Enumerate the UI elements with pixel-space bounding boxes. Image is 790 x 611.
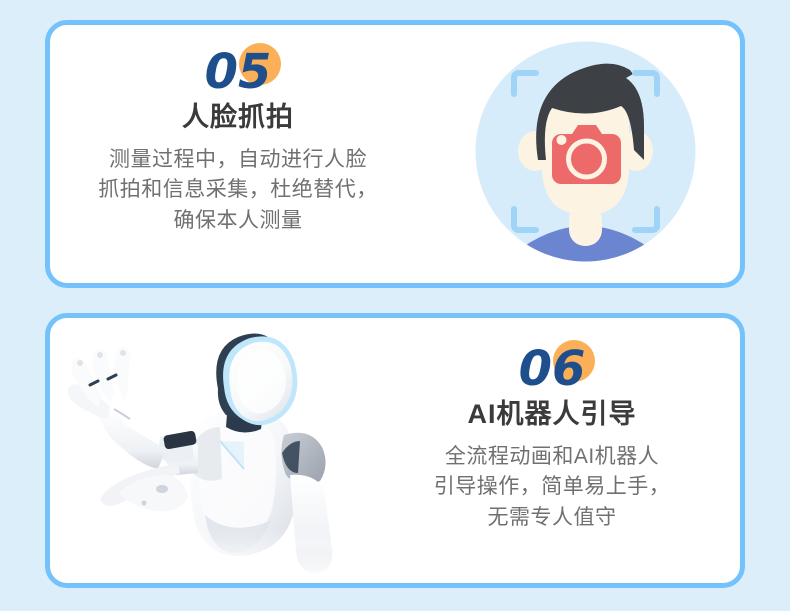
robot-palm-dot [142, 501, 147, 506]
card-text-block-face-capture: 05 人脸抓拍 测量过程中，自动进行人脸 抓拍和信息采集，杜绝替代， 确保本人测… [58, 41, 418, 236]
robot-forearm-left [98, 409, 166, 469]
robot-palm-port [156, 485, 168, 493]
card-heading: 人脸抓拍 [58, 101, 418, 135]
face-detection-avatar-illustration [468, 34, 703, 269]
feature-card-face-capture: 05 人脸抓拍 测量过程中，自动进行人脸 抓拍和信息采集，杜绝替代， 确保本人测… [45, 20, 745, 288]
card-number-badge-05: 05 [205, 41, 272, 103]
feature-cards-page: 05 人脸抓拍 测量过程中，自动进行人脸 抓拍和信息采集，杜绝替代， 确保本人测… [0, 0, 790, 611]
card-body-text: 全流程动画和AI机器人 引导操作，简单易上手， 无需专人值守 [372, 442, 732, 533]
card-body-line: 抓拍和信息采集，杜绝替代， [58, 175, 418, 205]
card-body-text: 测量过程中，自动进行人脸 抓拍和信息采集，杜绝替代， 确保本人测量 [58, 145, 418, 236]
card-number: 05 [205, 44, 272, 100]
illustration-bottom-fade [58, 528, 388, 578]
card-text-block-ai-robot-guidance: 06 AI机器人引导 全流程动画和AI机器人 引导操作，简单易上手， 无需专人值… [372, 338, 732, 533]
card-number-badge-06: 06 [519, 338, 586, 400]
card-number: 06 [519, 341, 586, 397]
card-body-line: 测量过程中，自动进行人脸 [58, 145, 418, 175]
card-body-line: 全流程动画和AI机器人 [372, 442, 732, 472]
humanoid-robot-illustration [58, 323, 388, 578]
card-body-line: 无需专人值守 [372, 503, 732, 533]
card-heading: AI机器人引导 [372, 398, 732, 432]
card-body-line: 确保本人测量 [58, 206, 418, 236]
feature-card-ai-robot-guidance: 06 AI机器人引导 全流程动画和AI机器人 引导操作，简单易上手， 无需专人值… [45, 313, 745, 588]
robot-hand-left [68, 347, 130, 419]
card-body-line: 引导操作，简单易上手， [372, 472, 732, 502]
